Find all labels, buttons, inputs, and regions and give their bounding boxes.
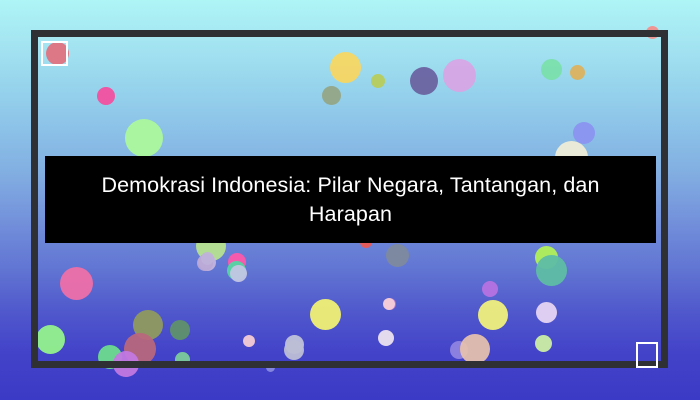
decorative-bubble bbox=[230, 265, 247, 282]
decorative-bubble bbox=[60, 267, 93, 300]
decorative-bubble bbox=[410, 67, 438, 95]
decorative-bubble bbox=[371, 74, 385, 88]
decorative-bubble bbox=[443, 59, 476, 92]
decorative-bubble bbox=[330, 52, 361, 83]
marker-bottom-right[interactable] bbox=[636, 342, 658, 368]
decorative-bubble bbox=[573, 122, 595, 144]
decorative-bubble bbox=[97, 87, 115, 105]
decorative-bubble bbox=[310, 299, 341, 330]
decorative-bubble bbox=[383, 298, 395, 310]
decorative-bubble bbox=[284, 340, 304, 360]
decorative-bubble bbox=[125, 119, 163, 157]
decorative-bubble bbox=[536, 255, 567, 286]
title-band: Demokrasi Indonesia: Pilar Negara, Tanta… bbox=[45, 156, 656, 243]
page-title: Demokrasi Indonesia: Pilar Negara, Tanta… bbox=[59, 171, 642, 228]
decorative-bubble bbox=[460, 334, 490, 364]
decorative-bubble bbox=[646, 26, 659, 39]
slide-canvas: Demokrasi Indonesia: Pilar Negara, Tanta… bbox=[0, 0, 700, 400]
decorative-bubble bbox=[535, 335, 552, 352]
decorative-bubble bbox=[478, 300, 508, 330]
decorative-bubble bbox=[378, 330, 394, 346]
decorative-bubble bbox=[541, 59, 562, 80]
decorative-bubble bbox=[201, 252, 214, 265]
decorative-bubble bbox=[175, 352, 190, 367]
decorative-bubble bbox=[482, 281, 498, 297]
decorative-bubble bbox=[243, 335, 255, 347]
marker-top-left[interactable] bbox=[41, 41, 68, 66]
decorative-bubble bbox=[570, 65, 585, 80]
decorative-bubble bbox=[322, 86, 341, 105]
decorative-bubble bbox=[266, 363, 275, 372]
decorative-bubble bbox=[386, 244, 409, 267]
decorative-bubble bbox=[36, 325, 65, 354]
decorative-bubble bbox=[536, 302, 557, 323]
decorative-bubble bbox=[113, 351, 139, 377]
decorative-bubble bbox=[170, 320, 190, 340]
